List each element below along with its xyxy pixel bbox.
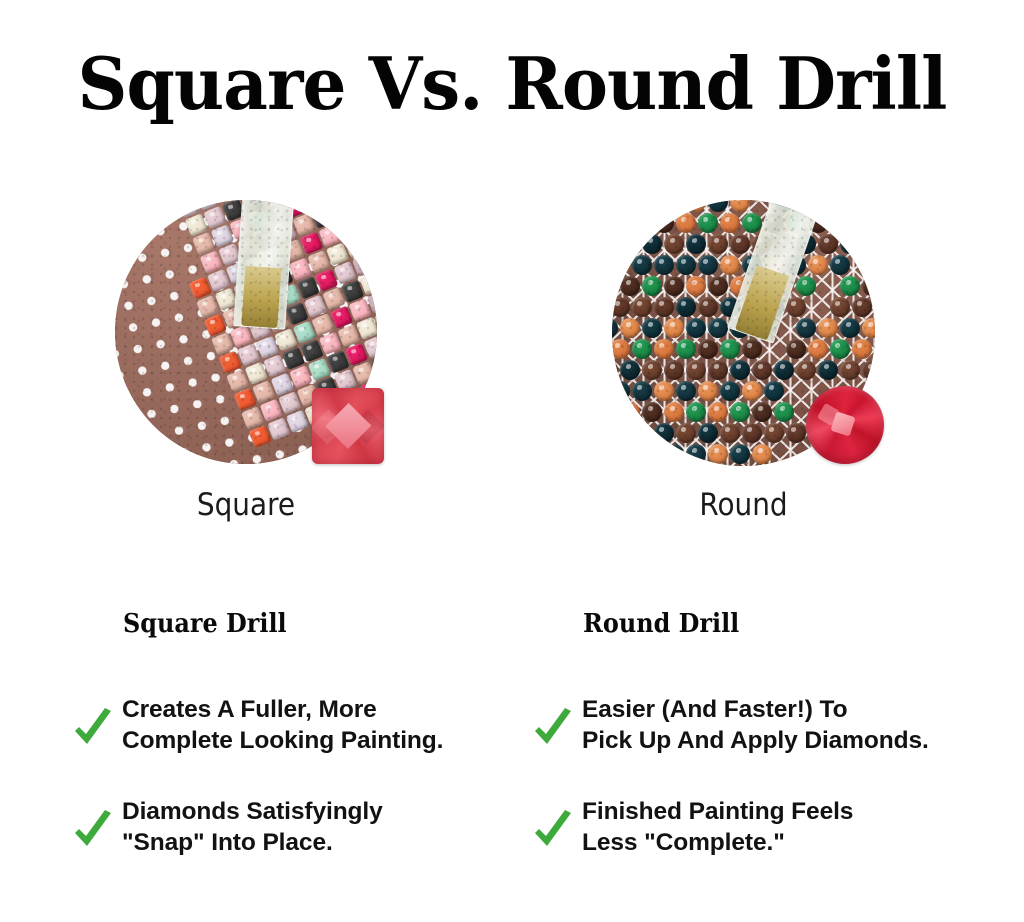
list-item: Diamonds Satisfyingly "Snap" Into Place.	[72, 796, 502, 858]
square-drill-benefits: Creates A Fuller, More Complete Looking …	[72, 694, 502, 898]
list-item: Finished Painting Feels Less "Complete."	[532, 796, 962, 858]
list-item: Creates A Fuller, More Complete Looking …	[72, 694, 502, 756]
round-drill-benefits: Easier (And Faster!) To Pick Up And Appl…	[532, 694, 962, 898]
square-drill-heading: Square Drill	[123, 608, 287, 640]
list-item-label: Easier (And Faster!) To Pick Up And Appl…	[582, 694, 929, 756]
square-photo-caption: Square	[128, 486, 364, 524]
check-icon	[72, 707, 114, 751]
round-drill-heading: Round Drill	[583, 608, 739, 640]
square-gem-swatch	[312, 388, 384, 464]
round-gem-swatch	[806, 386, 884, 464]
page-title: Square Vs. Round Drill	[20, 44, 1003, 124]
check-icon	[72, 809, 114, 853]
round-photo-caption: Round	[625, 486, 862, 524]
list-item-label: Diamonds Satisfyingly "Snap" Into Place.	[122, 796, 383, 858]
list-item-label: Finished Painting Feels Less "Complete."	[582, 796, 853, 858]
list-item: Easier (And Faster!) To Pick Up And Appl…	[532, 694, 962, 756]
list-item-label: Creates A Fuller, More Complete Looking …	[122, 694, 443, 756]
check-icon	[532, 707, 574, 751]
check-icon	[532, 809, 574, 853]
